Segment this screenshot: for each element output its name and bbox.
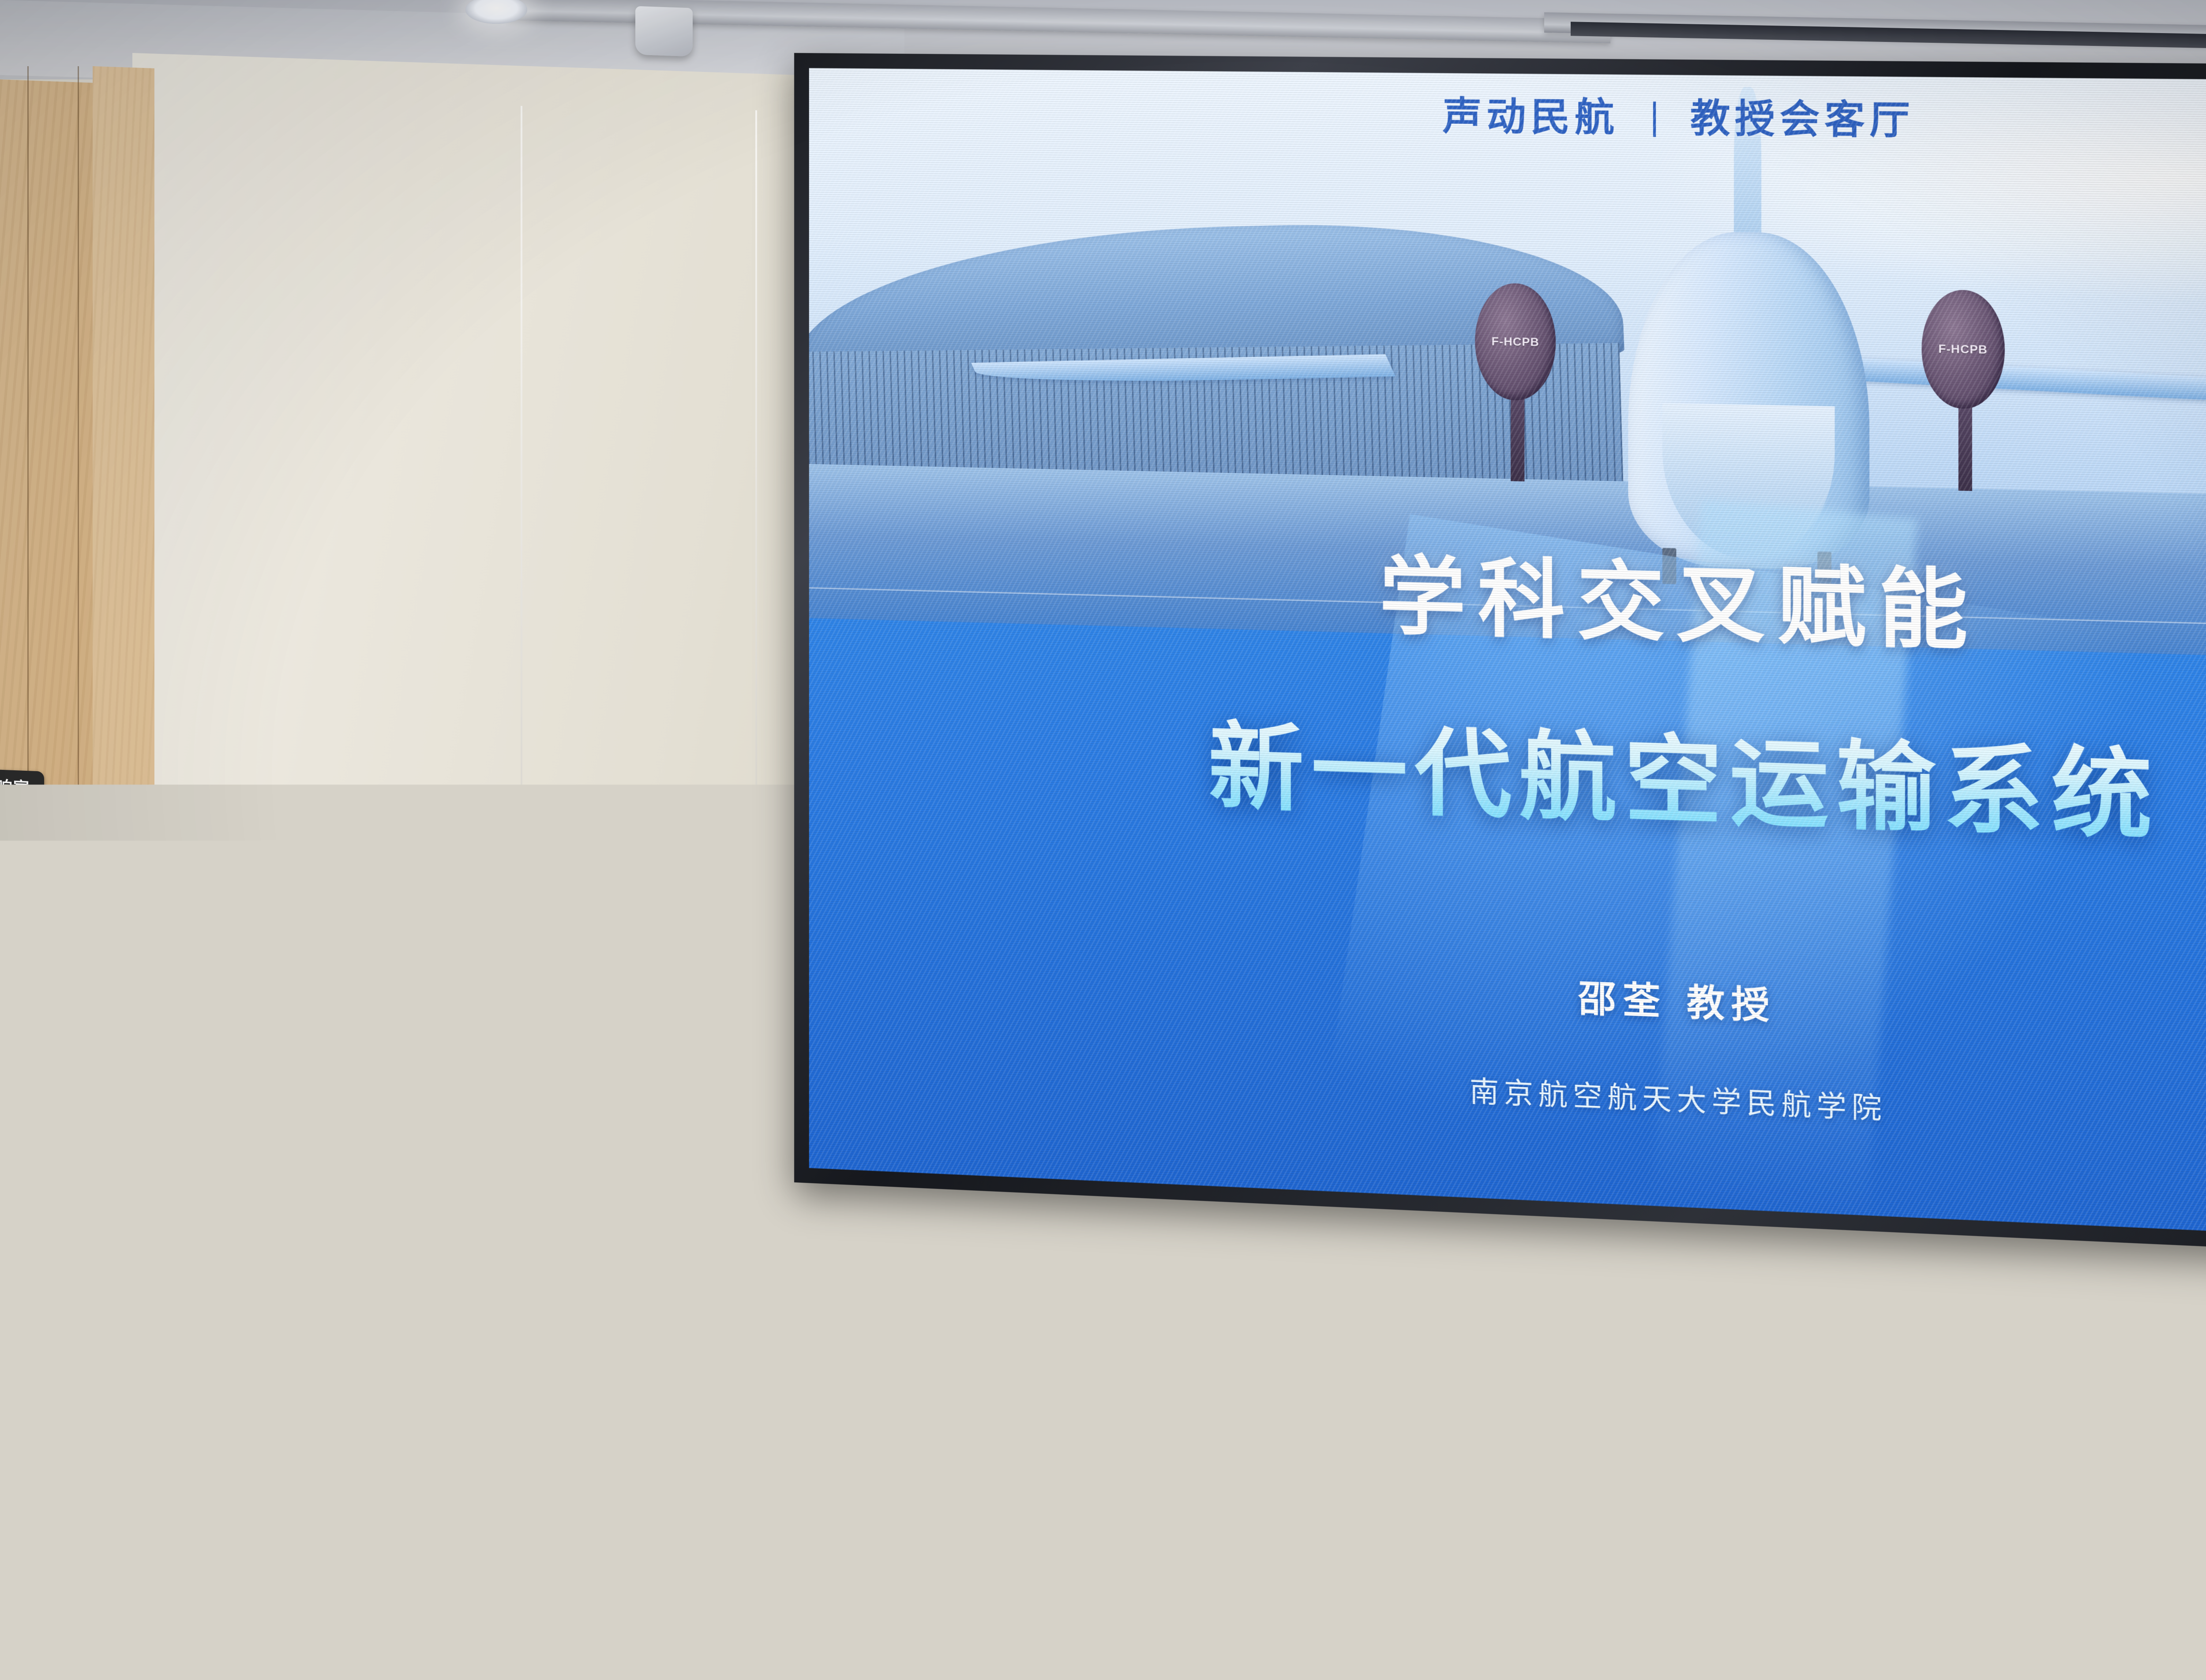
plaque-screw: [413, 1341, 418, 1346]
desk-paper: [812, 1665, 900, 1680]
plaque-screw: [173, 1346, 179, 1352]
podium-paper-sign: 教授会客厅 tion NUAA ✈: [310, 1215, 470, 1305]
running-man-icon: [1437, 1384, 1479, 1418]
slide-header-right: 教授会客厅: [1690, 96, 1915, 143]
slide-canvas: F-HCPB F-HCPB 声动民航 教授会客厅 学科交叉赋能 新一代航空运输系…: [809, 68, 2206, 1248]
aircraft-wing-right: [1847, 358, 2206, 418]
presenter-hand: [661, 1341, 703, 1384]
plaque-screw: [173, 1443, 179, 1449]
wall-seam: [1037, 1218, 1039, 1447]
wood-wall-panel: [93, 66, 154, 1471]
ceiling-spotlight-icon: [635, 6, 693, 57]
running-man-figure: [1449, 1391, 1475, 1419]
microphone-head-icon: [393, 1245, 416, 1275]
aircraft-registration-right: F-HCPB: [1938, 341, 1988, 356]
university-name-plaque: 1952 南京航空航天大學 NANJING UNIVERSITY OF AERO…: [141, 1324, 450, 1464]
lectern-podium[interactable]: 教授会客厅 tion NUAA ✈ 1952 南京航空航天大學 NANJING …: [146, 1224, 494, 1639]
nuaa-emblem-icon: 1952: [182, 1369, 232, 1421]
emergency-exit-sign: NE CE: [1414, 1376, 1546, 1426]
slide-header-divider: [1653, 101, 1656, 137]
podium-caster: [432, 1597, 460, 1625]
door-sign-label-cn: 光音响室: [0, 773, 30, 799]
aircraft-engine-left: F-HCPB: [1475, 282, 1556, 401]
cabinet-hinge: [83, 1004, 93, 1024]
wall-seam: [521, 106, 522, 1465]
lecture-hall-photo: 光音响室 And Light Sound Room: [0, 0, 2206, 1680]
slide-header-left: 声动民航: [1443, 94, 1619, 141]
exit-sign-mini-left: NE: [1420, 1384, 1430, 1392]
emblem-year: 1952: [183, 1407, 231, 1415]
podium-sign-text: 教授会客厅: [317, 1220, 447, 1267]
plaque-screw: [413, 1437, 418, 1443]
eyeglasses-icon: [610, 1072, 693, 1092]
led-presentation-screen[interactable]: F-HCPB F-HCPB 声动民航 教授会客厅 学科交叉赋能 新一代航空运输系…: [794, 53, 2206, 1265]
exit-sign-wire: [1436, 1332, 1438, 1378]
aircraft-registration-left: F-HCPB: [1492, 334, 1539, 349]
cabinet-label: [57, 816, 81, 833]
aircraft-engine-right: F-HCPB: [1921, 289, 2004, 409]
arrow-right-icon: [1486, 1395, 1524, 1408]
water-bottle: [503, 1606, 541, 1680]
cabinet-hinge: [83, 891, 93, 911]
presenter-person: [543, 1001, 772, 1628]
equipment-cabinet[interactable]: [0, 803, 97, 1451]
exit-sign-mini-right: CE: [1530, 1384, 1539, 1392]
airplane-icon: ✈: [424, 1264, 439, 1283]
